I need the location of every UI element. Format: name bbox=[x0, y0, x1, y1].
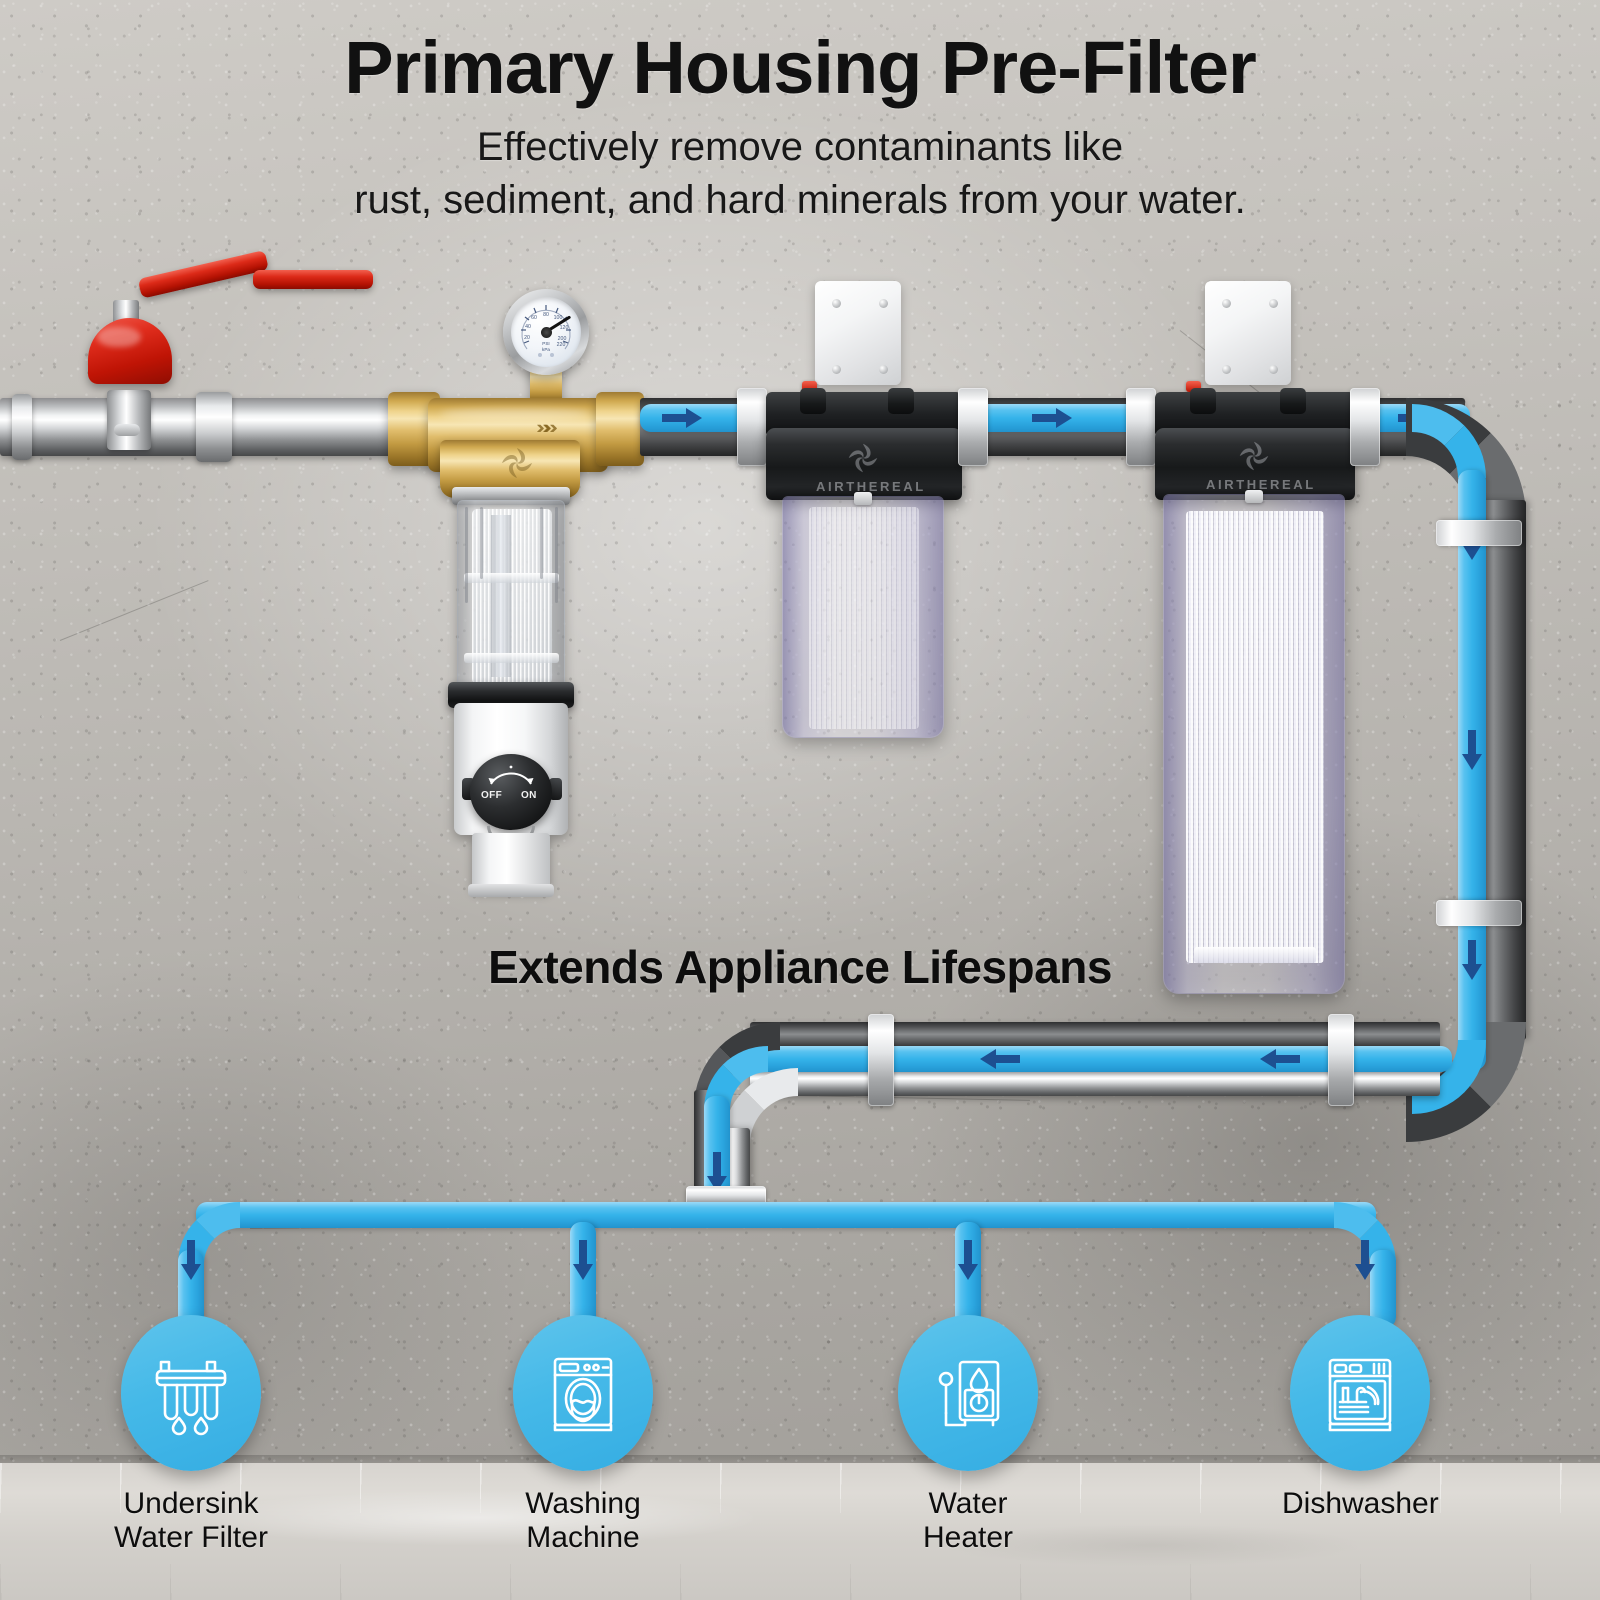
infographic-stage: Primary Housing Pre-Filter Effectively r… bbox=[0, 0, 1600, 1600]
water-heater-icon bbox=[924, 1349, 1012, 1437]
subtitle-line-1: Effectively remove contaminants like bbox=[0, 122, 1600, 173]
appliance-label: Water Heater bbox=[890, 1487, 1046, 1554]
pipe-clamp-vertical-2 bbox=[1436, 900, 1522, 926]
drain-outlet bbox=[472, 833, 550, 891]
bowl-rib bbox=[480, 507, 483, 579]
washing-machine-icon bbox=[539, 1349, 627, 1437]
svg-text:220: 220 bbox=[557, 342, 566, 348]
pipe-nut-left bbox=[196, 392, 232, 462]
flow-arrow-down-drop-3 bbox=[958, 1240, 978, 1280]
appliance-icon-circle bbox=[898, 1315, 1038, 1471]
flow-arrow-left-1 bbox=[1260, 1049, 1300, 1069]
clear-bowl bbox=[457, 500, 565, 692]
housing-2-clip bbox=[1245, 490, 1263, 503]
valve-pin bbox=[114, 424, 140, 436]
appliance-icon-circle bbox=[121, 1315, 261, 1471]
mesh-band-bottom bbox=[464, 653, 559, 663]
gauge-hub bbox=[541, 327, 552, 338]
flow-arrow-left-2 bbox=[980, 1049, 1020, 1069]
flow-arrow-down-drop-4 bbox=[1355, 1240, 1375, 1280]
pipe-clamp-4 bbox=[1350, 388, 1380, 466]
housing-1-sump bbox=[782, 496, 944, 738]
pipe-clamp-vertical-1 bbox=[1436, 520, 1522, 546]
brass-highlight bbox=[440, 408, 590, 420]
flow-arrow-down-2 bbox=[1462, 730, 1482, 770]
mount-screw bbox=[1222, 299, 1231, 308]
dishwasher-icon bbox=[1316, 1349, 1404, 1437]
knob-rotation-arrows-icon bbox=[483, 762, 539, 792]
header-block: Primary Housing Pre-Filter Effectively r… bbox=[0, 28, 1600, 226]
svg-text:20: 20 bbox=[524, 335, 530, 341]
pipe-clamp-return-2 bbox=[1328, 1014, 1354, 1106]
page-title: Primary Housing Pre-Filter bbox=[0, 28, 1600, 108]
housing-1-clip bbox=[854, 492, 872, 505]
housing-1-port-left bbox=[800, 388, 826, 414]
mount-screw bbox=[832, 365, 841, 374]
housing-1-port-right bbox=[888, 388, 914, 414]
appliance-icon-circle bbox=[513, 1315, 653, 1471]
housing-2-port-left bbox=[1190, 388, 1216, 414]
pipe-clamp-1 bbox=[737, 388, 767, 466]
filter-cartridge-2 bbox=[1186, 511, 1324, 963]
flow-arrow-right-2 bbox=[1032, 408, 1072, 428]
appliance-label: Washing Machine bbox=[505, 1487, 661, 1554]
valve-handle-lever[interactable] bbox=[253, 270, 373, 289]
pipe-clamp-2 bbox=[958, 388, 988, 466]
mount-screw bbox=[879, 365, 888, 374]
pipe-clamp-return-1 bbox=[868, 1014, 894, 1106]
appliance-item-dishwasher[interactable]: Dishwasher bbox=[1282, 1315, 1438, 1521]
bowl-rib bbox=[465, 507, 468, 603]
pipe-nut-left-2 bbox=[12, 394, 32, 460]
appliance-label: Undersink Water Filter bbox=[113, 1487, 269, 1554]
drain-lip bbox=[468, 884, 554, 897]
brass-outlet bbox=[596, 392, 644, 466]
svg-text:120: 120 bbox=[560, 325, 569, 331]
flow-arrow-down-drop-1 bbox=[181, 1240, 201, 1280]
appliance-item-washing-machine[interactable]: Washing Machine bbox=[505, 1315, 661, 1554]
svg-text:PSI: PSI bbox=[542, 341, 549, 346]
filter-cartridge-1 bbox=[809, 507, 919, 729]
mid-caption: Extends Appliance Lifespans bbox=[0, 940, 1600, 994]
bowl-rib bbox=[555, 507, 558, 603]
knob-on-label: ON bbox=[521, 790, 537, 801]
pipe-clamp-3 bbox=[1126, 388, 1156, 466]
appliance-icon-circle bbox=[1290, 1315, 1430, 1471]
housing-2-port-right bbox=[1280, 388, 1306, 414]
flow-direction-chevrons: »» bbox=[536, 417, 550, 439]
appliance-label: Dishwasher bbox=[1282, 1487, 1438, 1521]
mount-screw bbox=[879, 299, 888, 308]
mount-screw bbox=[1269, 299, 1278, 308]
svg-text:60: 60 bbox=[531, 315, 537, 321]
bowl-rib bbox=[540, 507, 543, 579]
valve-stem bbox=[107, 390, 151, 450]
mount-bracket-2 bbox=[1205, 281, 1291, 385]
brand-spiral-icon bbox=[498, 444, 536, 482]
mount-screw bbox=[1269, 365, 1278, 374]
brand-spiral-icon bbox=[1236, 438, 1272, 474]
manifold-main bbox=[196, 1202, 1376, 1228]
svg-text:80: 80 bbox=[543, 312, 549, 318]
flow-arrow-down-drop-2 bbox=[573, 1240, 593, 1280]
undersink-filter-icon bbox=[145, 1347, 237, 1439]
mount-screw bbox=[1222, 365, 1231, 374]
appliance-item-water-heater[interactable]: Water Heater bbox=[890, 1315, 1046, 1554]
mount-bracket-1 bbox=[815, 281, 901, 385]
subtitle-line-2: rust, sediment, and hard minerals from y… bbox=[0, 175, 1600, 226]
housing-2-sump bbox=[1163, 494, 1345, 994]
knob-off-label: OFF bbox=[481, 790, 502, 801]
svg-text:kPa: kPa bbox=[542, 347, 550, 352]
svg-text:40: 40 bbox=[525, 324, 531, 330]
mount-screw bbox=[832, 299, 841, 308]
valve-dome-highlight bbox=[97, 327, 141, 347]
appliance-item-undersink-water-filter[interactable]: Undersink Water Filter bbox=[113, 1315, 269, 1554]
flow-arrow-right-1 bbox=[662, 408, 702, 428]
brand-spiral-icon bbox=[845, 440, 881, 476]
mesh-band-top bbox=[464, 573, 559, 583]
